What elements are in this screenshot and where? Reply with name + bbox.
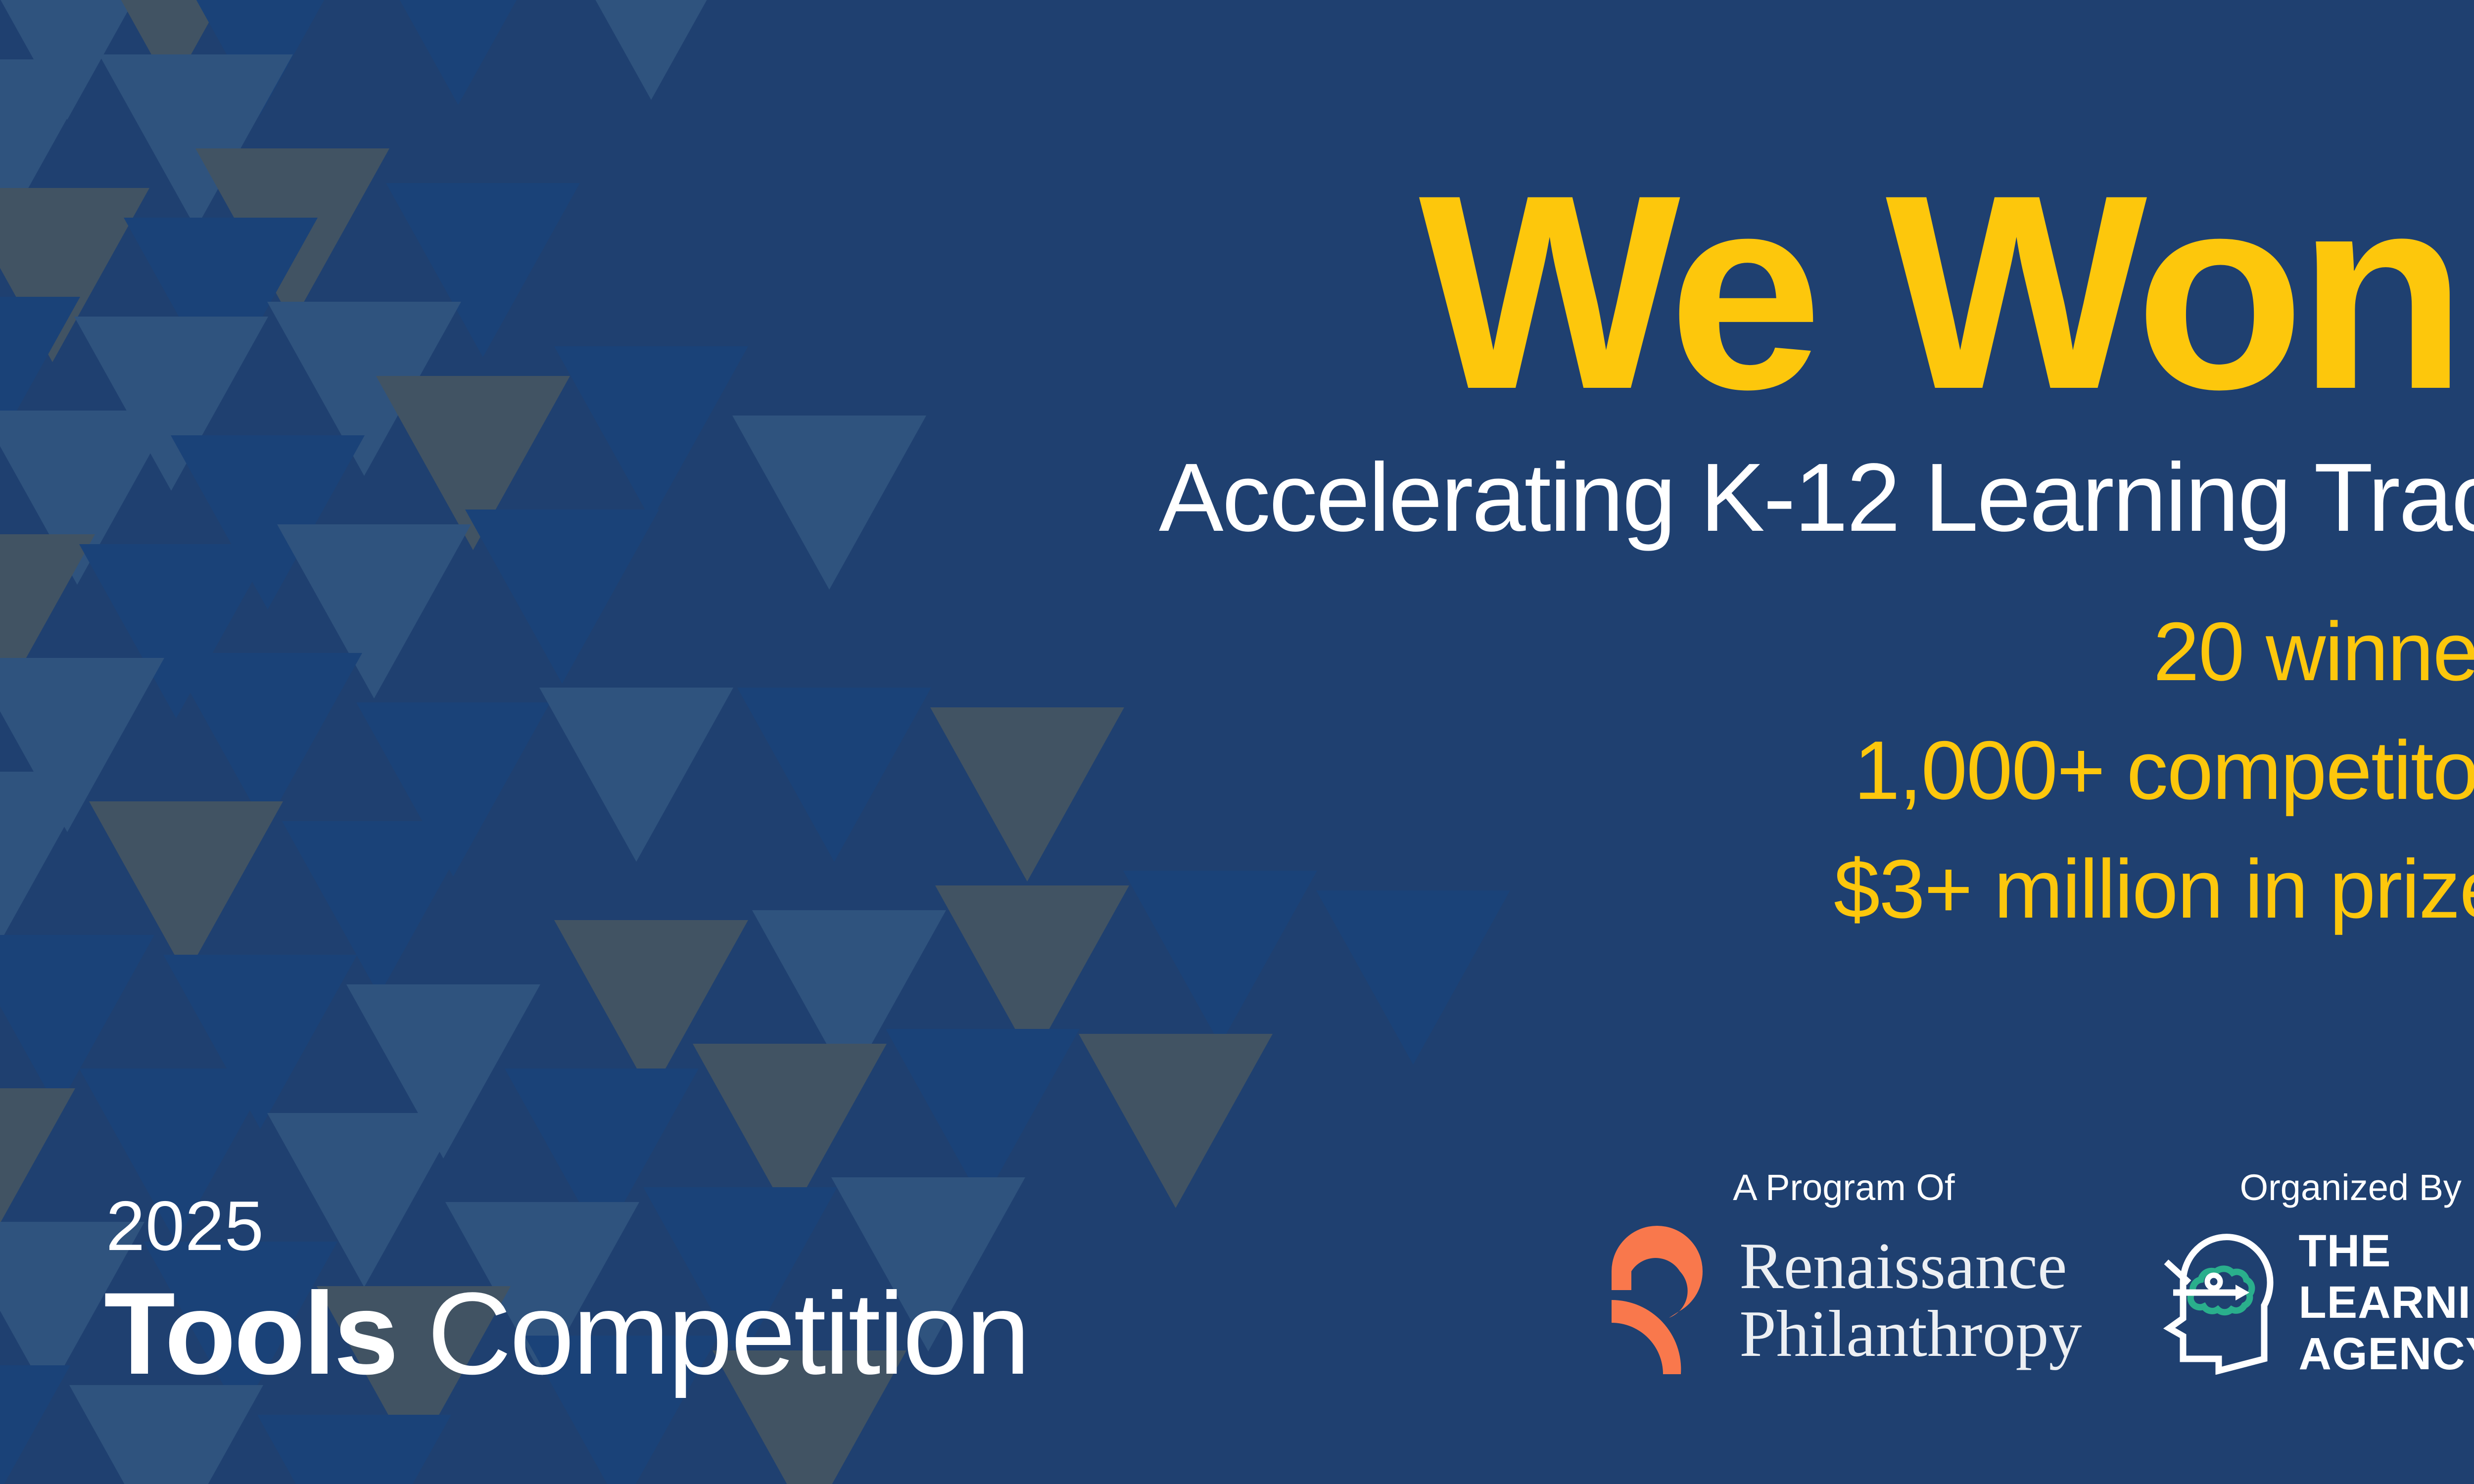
triangle-shape (737, 688, 931, 862)
stat-competitors: 1,000+ competitors (912, 711, 2474, 830)
triangle-shape (0, 772, 95, 946)
triangle-shape (0, 1365, 70, 1484)
subheadline-track: Accelerating K-12 Learning Track (912, 447, 2474, 549)
renaissance-lockup: Renaissance Philanthropy (1606, 1226, 2082, 1374)
brand-name-tools: Tools (104, 1268, 397, 1399)
headline-we-won: We Won! (912, 163, 2474, 421)
triangle-shape (554, 346, 748, 520)
la-word-line2: LEARNING (2299, 1277, 2474, 1329)
partner-renaissance-philanthropy: A Program Of Renaissance Philanthropy (1606, 1169, 2082, 1374)
triangle-shape (554, 0, 748, 100)
page-title: Tools Competition (104, 1275, 1029, 1392)
triangle-shape (732, 416, 926, 590)
head-brain-arrow-icon (2161, 1231, 2284, 1375)
renaissance-wordmark: Renaissance Philanthropy (1739, 1232, 2082, 1367)
partner-logos: A Program Of Renaissance Philanthropy Or… (1606, 1169, 2474, 1380)
brand-name-competition: Competition (427, 1268, 1028, 1399)
triangle-shape (257, 1415, 451, 1484)
partner-the-learning-agency: Organized By (2161, 1169, 2474, 1380)
learning-agency-wordmark: THE LEARNING AGENCY (2299, 1226, 2474, 1380)
announcement-block: We Won! Accelerating K-12 Learning Track… (912, 163, 2474, 948)
stat-winners: 20 winners (912, 592, 2474, 711)
promo-banner: We Won! Accelerating K-12 Learning Track… (0, 0, 2474, 1484)
brand-year: 2025 (106, 1191, 1029, 1261)
triangle-shape (1079, 1034, 1273, 1208)
triangle-shape (465, 510, 659, 684)
stats-list: 20 winners 1,000+ competitors $3+ millio… (912, 592, 2474, 949)
renaissance-r-mark (1606, 1226, 1724, 1374)
partner-label-a-program-of: A Program Of (1733, 1169, 1954, 1206)
triangle-shape (539, 688, 733, 862)
la-word-line1: THE (2299, 1226, 2474, 1277)
partner-label-organized-by: Organized By (2240, 1169, 2462, 1206)
competition-brand-lockup: 2025 Tools Competition (104, 1191, 1029, 1392)
stat-prizes: $3+ million in prizes (912, 830, 2474, 948)
la-word-line3: AGENCY (2299, 1329, 2474, 1380)
learning-agency-lockup: THE LEARNING AGENCY (2161, 1226, 2474, 1380)
triangle-shape (69, 1385, 263, 1484)
triangle-shape (361, 0, 555, 105)
renaissance-word-line2: Philanthropy (1739, 1300, 2082, 1368)
renaissance-word-line1: Renaissance (1739, 1232, 2082, 1300)
